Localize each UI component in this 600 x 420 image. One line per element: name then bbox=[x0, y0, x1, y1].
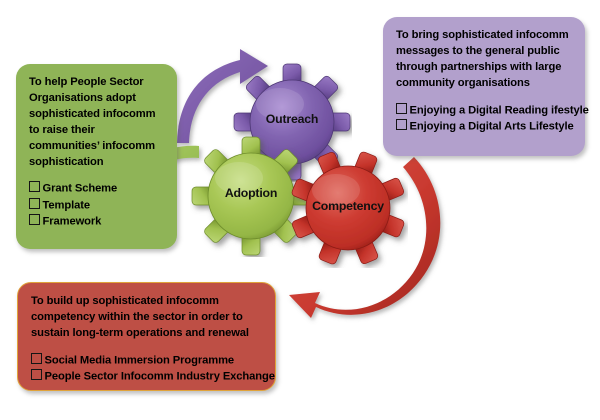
callout-adoption-bullets: Grant Scheme Template Framework bbox=[29, 181, 164, 230]
checkbox-square-icon bbox=[396, 103, 407, 114]
diagram-canvas: Outreach bbox=[0, 0, 600, 420]
callout-competency: To build up sophisticated infocomm compe… bbox=[17, 282, 276, 391]
callout-adoption: To help People Sector Organisations adop… bbox=[16, 64, 177, 249]
list-item: People Sector Infocomm Industry Exchange bbox=[31, 369, 262, 385]
callout-competency-body: To build up sophisticated infocomm compe… bbox=[31, 294, 262, 342]
checkbox-square-icon bbox=[29, 198, 40, 209]
list-item: Enjoying a Digital Reading ifestyle bbox=[396, 103, 572, 119]
list-item: Social Media Immersion Programme bbox=[31, 353, 262, 369]
callout-outreach: To bring sophisticated infocomm messages… bbox=[383, 17, 585, 156]
gear-competency-shape bbox=[288, 148, 408, 268]
gear-competency[interactable]: Competency bbox=[288, 148, 408, 268]
checkbox-square-icon bbox=[396, 119, 407, 130]
spacer bbox=[31, 342, 262, 353]
list-item: Enjoying a Digital Arts Lifestyle bbox=[396, 119, 572, 135]
spacer bbox=[396, 92, 572, 103]
checkbox-square-icon bbox=[29, 181, 40, 192]
spacer bbox=[29, 170, 164, 181]
callout-competency-bullets: Social Media Immersion Programme People … bbox=[31, 353, 262, 386]
callout-adoption-body: To help People Sector Organisations adop… bbox=[29, 75, 164, 170]
list-item: Template bbox=[29, 198, 164, 214]
list-item: Framework bbox=[29, 214, 164, 230]
callout-outreach-body: To bring sophisticated infocomm messages… bbox=[396, 28, 572, 92]
list-item: Grant Scheme bbox=[29, 181, 164, 197]
checkbox-square-icon bbox=[31, 353, 42, 364]
checkbox-square-icon bbox=[31, 369, 42, 380]
callout-outreach-bullets: Enjoying a Digital Reading ifestyle Enjo… bbox=[396, 103, 572, 136]
checkbox-square-icon bbox=[29, 214, 40, 225]
